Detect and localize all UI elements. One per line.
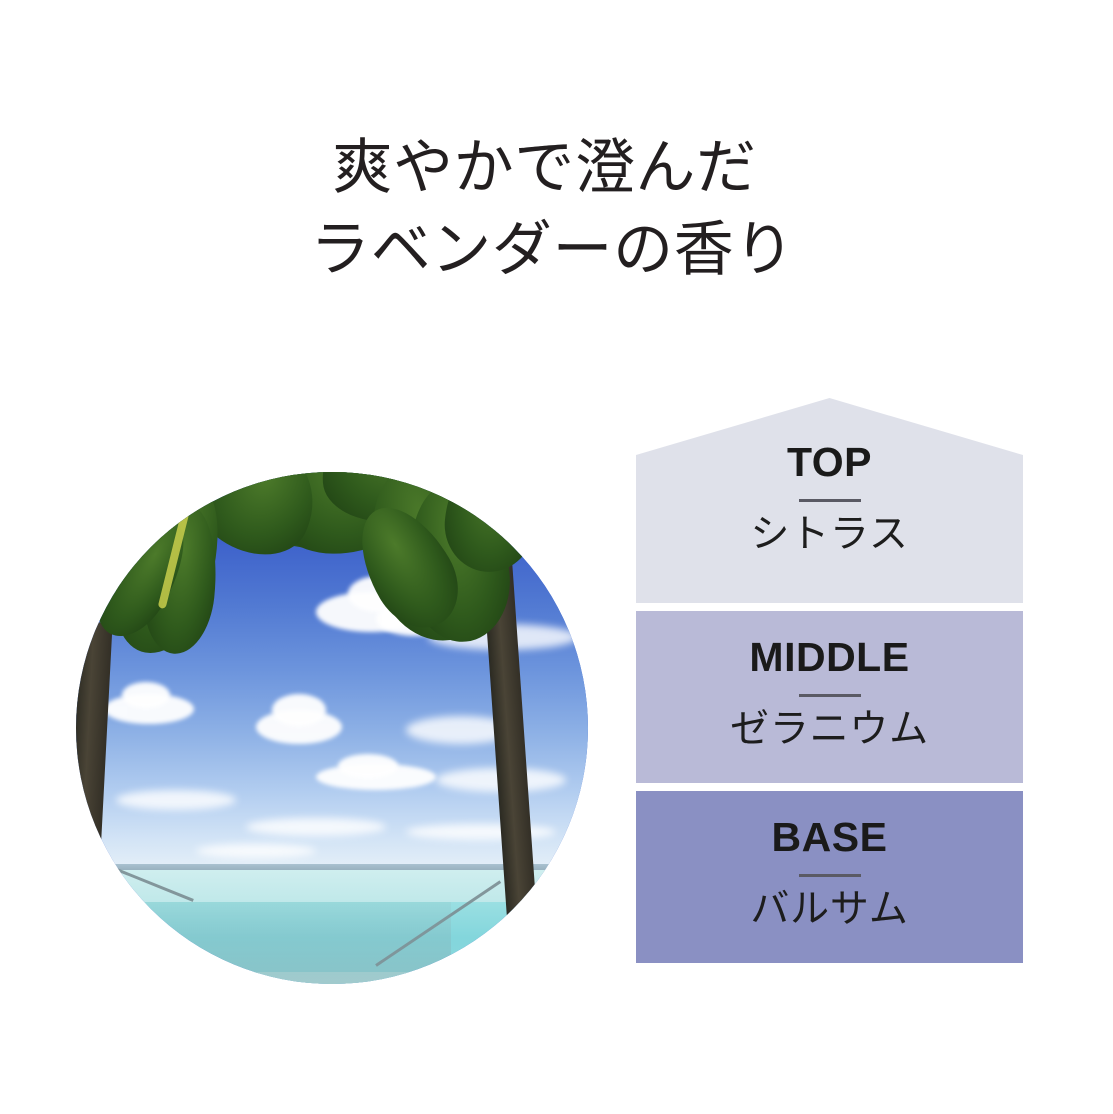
note-top: TOP シトラス xyxy=(636,398,1023,603)
beach-photo xyxy=(76,472,588,984)
cloud xyxy=(246,818,386,836)
fragrance-note-pyramid: TOP シトラス MIDDLE ゼラニウム BASE バルサム xyxy=(636,398,1023,963)
note-middle-name: ゼラニウム xyxy=(636,709,1023,752)
note-top-label: TOP xyxy=(636,440,1023,485)
cloud xyxy=(406,824,556,840)
note-top-name: シトラス xyxy=(636,514,1023,557)
note-top-divider xyxy=(799,499,861,502)
cloud xyxy=(196,844,316,858)
page-title-line-1: 爽やかで澄んだ xyxy=(0,128,1113,210)
note-base-label: BASE xyxy=(636,815,1023,860)
note-middle: MIDDLE ゼラニウム xyxy=(636,611,1023,783)
note-base: BASE バルサム xyxy=(636,791,1023,963)
cloud xyxy=(116,790,236,810)
note-base-divider xyxy=(799,874,861,877)
cloud xyxy=(272,694,326,726)
cloud xyxy=(122,682,170,708)
hammock xyxy=(106,902,451,984)
note-middle-label: MIDDLE xyxy=(636,635,1023,680)
note-base-name: バルサム xyxy=(636,889,1023,932)
page-title: 爽やかで澄んだ ラベンダーの香り xyxy=(0,128,1113,291)
cloud xyxy=(338,754,398,778)
note-middle-divider xyxy=(799,694,861,697)
page-title-line-2: ラベンダーの香り xyxy=(0,210,1113,292)
